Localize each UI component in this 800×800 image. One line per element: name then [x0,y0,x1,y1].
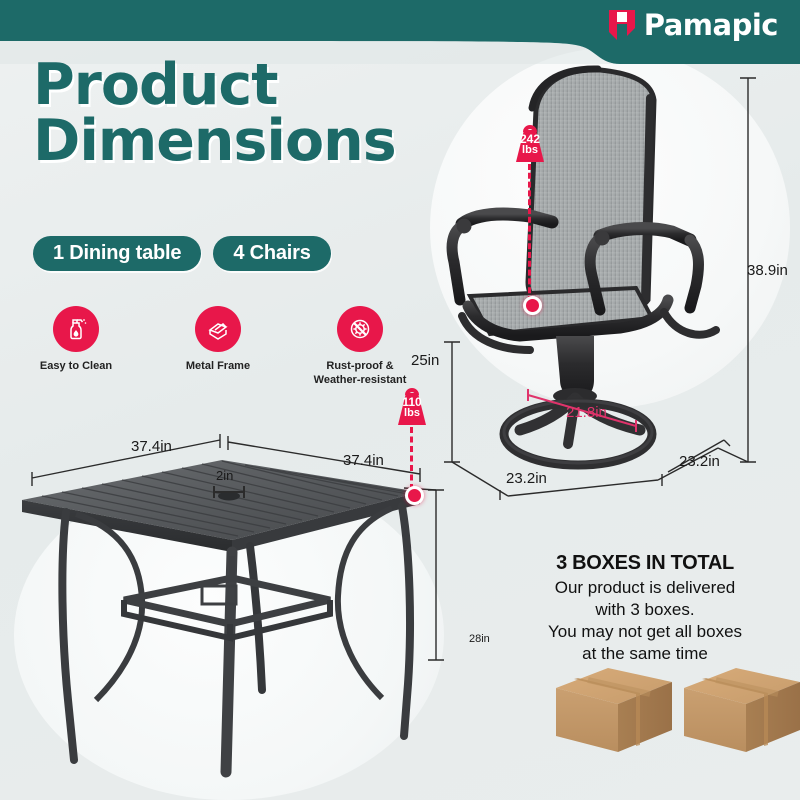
shipping-line-1: Our product is delivered [495,578,795,597]
weight-icon: 242 lbs [509,120,551,164]
chair-weight-badge: 242 lbs [509,120,551,164]
weight-value: 242 lbs [509,134,551,156]
shipping-title: 3 BOXES IN TOTAL [495,552,795,575]
table-weight-anchor-dot [405,486,424,505]
infographic-canvas: Pamapic Product Dimensions 1 Dining tabl… [0,0,800,800]
chair-depth-label: 23.2in [679,453,720,470]
table-width-label: 37.4in [131,438,172,455]
shipping-box-1 [556,668,700,752]
weight-icon: 110 lbs [391,383,433,427]
chair-base-diameter-label: 21.8in [566,404,607,421]
shipping-line-3: You may not get all boxes [495,622,795,641]
chair-weight-anchor-dot [523,296,542,315]
weight-value: 110 lbs [391,397,433,419]
chair-height-label: 38.9in [747,262,788,279]
shipping-info: 3 BOXES IN TOTAL Our product is delivere… [495,552,795,663]
shipping-line-2: with 3 boxes. [495,600,795,619]
table-umbrella-hole-label: 2in [216,468,233,483]
table-depth-label: 37.4in [343,452,384,469]
table-illustration [22,460,420,772]
chair-width-label: 23.2in [506,470,547,487]
table-weight-badge: 110 lbs [391,383,433,427]
chair-weight-leader-line [528,164,531,302]
shipping-line-4: at the same time [495,644,795,663]
table-height-label: 28in [469,633,490,645]
shipping-box-2 [684,668,800,752]
table-weight-leader-line [410,427,413,490]
chair-seat-height-label: 25in [411,352,439,369]
